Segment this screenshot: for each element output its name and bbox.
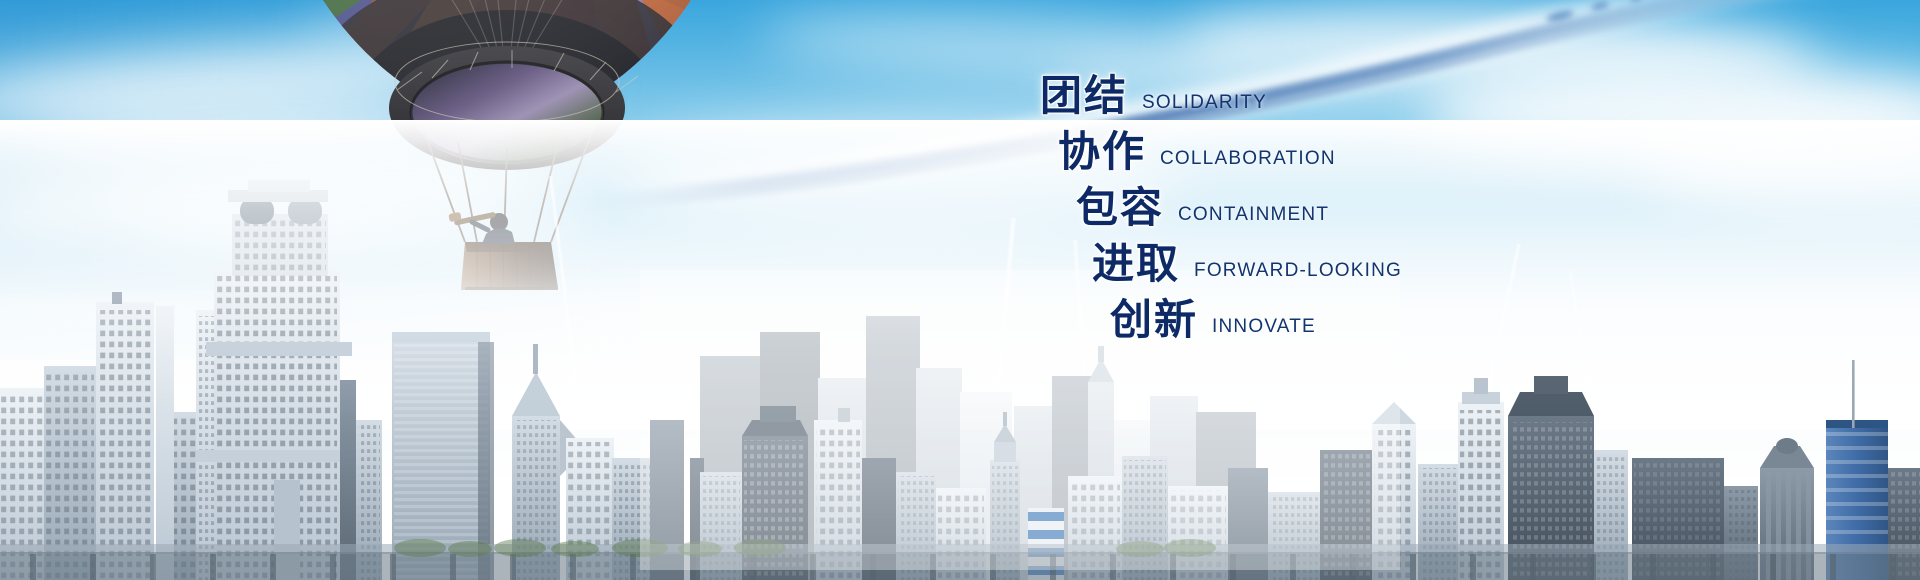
slogan-list: 团结 SOLIDARITY 协作 COLLABORATION 包容 CONTAI… xyxy=(1040,62,1600,342)
slogan-row-forward-looking: 进取 FORWARD-LOOKING xyxy=(1092,230,1600,286)
slogan-cn-forward-looking: 进取 xyxy=(1092,230,1180,291)
slogan-cn-innovate: 创新 xyxy=(1110,286,1198,347)
slogan-en-forward-looking: FORWARD-LOOKING xyxy=(1194,260,1402,282)
slogan-cn-containment: 包容 xyxy=(1076,174,1164,235)
banner-root: 团结 SOLIDARITY 协作 COLLABORATION 包容 CONTAI… xyxy=(0,0,1920,580)
slogan-row-collaboration: 协作 COLLABORATION xyxy=(1058,118,1600,174)
slogan-en-containment: CONTAINMENT xyxy=(1178,204,1329,226)
slogan-row-solidarity: 团结 SOLIDARITY xyxy=(1040,62,1600,118)
slogan-row-containment: 包容 CONTAINMENT xyxy=(1076,174,1600,230)
slogan-cn-collaboration: 协作 xyxy=(1058,118,1146,179)
slogan-en-innovate: INNOVATE xyxy=(1212,316,1316,338)
slogan-cn-solidarity: 团结 xyxy=(1040,62,1128,123)
slogan-row-innovate: 创新 INNOVATE xyxy=(1110,286,1600,342)
slogan-en-solidarity: SOLIDARITY xyxy=(1142,92,1267,114)
slogan-en-collaboration: COLLABORATION xyxy=(1160,148,1336,170)
city-skyline xyxy=(0,120,1920,580)
